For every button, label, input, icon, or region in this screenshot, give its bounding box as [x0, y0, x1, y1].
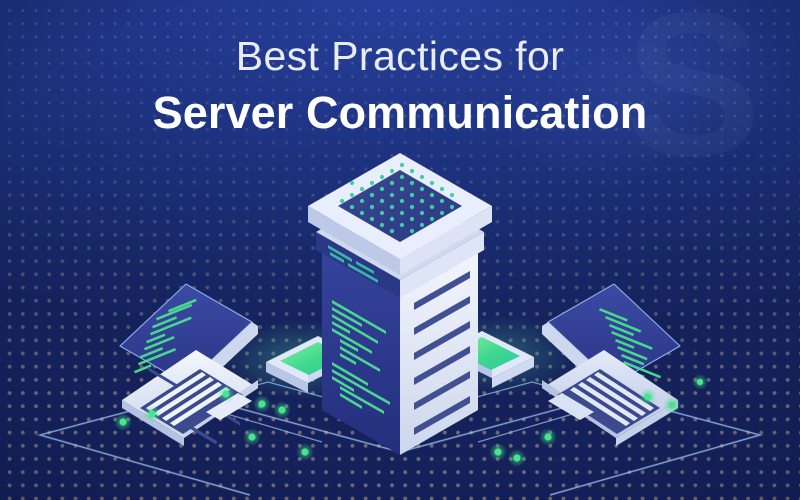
circuit-node [639, 388, 657, 406]
circuit-node [253, 395, 271, 413]
central-server-tower [308, 153, 492, 455]
page-title: Server Communication [0, 85, 800, 141]
circuit-node [273, 401, 291, 419]
circuit-node [692, 374, 708, 390]
illustration-svg [0, 150, 800, 500]
circuit-node [508, 449, 526, 467]
headline-light: Best Practices for [0, 30, 800, 82]
circuit-node [143, 405, 161, 423]
circuit-node [296, 443, 314, 461]
circuit-node [663, 396, 681, 414]
circuit-node [489, 443, 507, 461]
circuit-node [114, 413, 132, 431]
banner-canvas: S Best Practices for Server Communicatio… [0, 0, 800, 500]
circuit-node [217, 385, 235, 403]
circuit-node [243, 428, 261, 446]
headline-block: Best Practices for Server Communication [0, 30, 800, 141]
circuit-node [539, 428, 557, 446]
isometric-illustration [0, 150, 800, 500]
